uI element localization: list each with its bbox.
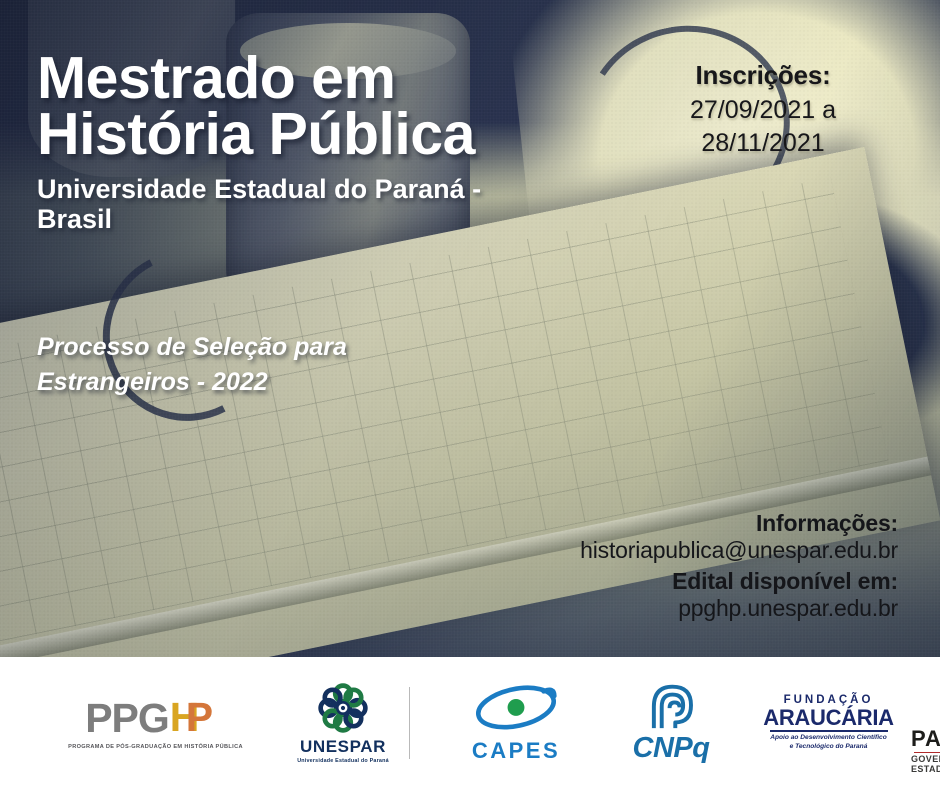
poster: Mestrado em História Pública Universidad… [0,0,940,788]
info-label: Informações: [428,510,898,537]
logo-parana: PARANÁ GOVERNO DO ESTADO [911,671,940,775]
registration-block: Inscrições: 27/09/2021 a 28/11/2021 [628,60,898,159]
logo-row: PPG H P PROGRAMA DE PÓS-GRADUAÇÃO EM HIS… [0,671,940,775]
process-line-2: Estrangeiros - 2022 [37,365,517,400]
logo-divider [409,687,410,759]
ppghp-prefix: PPG [85,698,169,739]
unespar-rosette-icon [315,682,371,734]
unespar-subtitle: Universidade Estadual do Paraná [297,758,389,764]
parana-rule [914,752,940,754]
logo-ppghp: PPG H P PROGRAMA DE PÓS-GRADUAÇÃO EM HIS… [28,695,283,750]
parana-subtitle: GOVERNO DO ESTADO [911,754,940,774]
ppghp-monogram-icon: H P [170,695,226,739]
subtitle-line-1: Universidade Estadual do Paraná - [37,174,617,204]
araucaria-subtitle-line-1: Apoio ao Desenvolvimento Científico [770,734,887,743]
registration-label: Inscrições: [628,60,898,91]
title-line-2: História Pública [37,106,617,162]
cnpq-head-icon [642,681,700,731]
registration-dates: 27/09/2021 a 28/11/2021 [628,94,898,159]
araucaria-name: ARAUCÁRIA [763,706,894,729]
araucaria-top-word: FUNDAÇÃO [784,694,874,706]
logo-footer: PPG H P PROGRAMA DE PÓS-GRADUAÇÃO EM HIS… [0,657,940,788]
logo-unespar: UNESPAR Universidade Estadual do Paraná [283,682,403,764]
ppghp-letter-p: P [186,697,213,738]
registration-date-end: 28/11/2021 [628,127,898,160]
logo-araucaria: FUNDAÇÃO ARAUCÁRIA Apoio ao Desenvolvime… [746,694,911,752]
araucaria-subtitle-line-2: e Tecnológico do Paraná [770,743,887,752]
ppghp-tagline: PROGRAMA DE PÓS-GRADUAÇÃO EM HISTÓRIA PÚ… [68,744,243,750]
logo-capes: CAPES [436,682,596,764]
title-line-1: Mestrado em [37,50,617,106]
contact-website[interactable]: ppghp.unespar.edu.br [428,595,898,622]
araucaria-rule [770,730,888,732]
headline-block: Mestrado em História Pública Universidad… [37,50,617,235]
subtitle-line-2: Brasil [37,204,617,234]
notice-label: Edital disponível em: [428,568,898,595]
ppghp-mark: PPG H P [85,695,226,739]
unespar-name: UNESPAR [300,737,386,757]
araucaria-subtitle: Apoio ao Desenvolvimento Científico e Te… [770,734,887,752]
page-title: Mestrado em História Pública [37,50,617,162]
process-line-1: Processo de Seleção para [37,330,517,365]
contact-block: Informações: historiapublica@unespar.edu… [428,510,898,622]
contact-email[interactable]: historiapublica@unespar.edu.br [428,537,898,564]
capes-name: CAPES [472,738,560,764]
selection-process-text: Processo de Seleção para Estrangeiros - … [37,330,517,399]
parana-name: PARANÁ [911,728,940,750]
logo-cnpq: CNPq [596,681,746,765]
institution-subtitle: Universidade Estadual do Paraná - Brasil [37,174,617,234]
cnpq-name: CNPq [633,732,710,765]
capes-orbit-icon [470,682,562,736]
parana-coat-of-arms-icon [934,671,940,725]
registration-date-start: 27/09/2021 a [628,94,898,127]
